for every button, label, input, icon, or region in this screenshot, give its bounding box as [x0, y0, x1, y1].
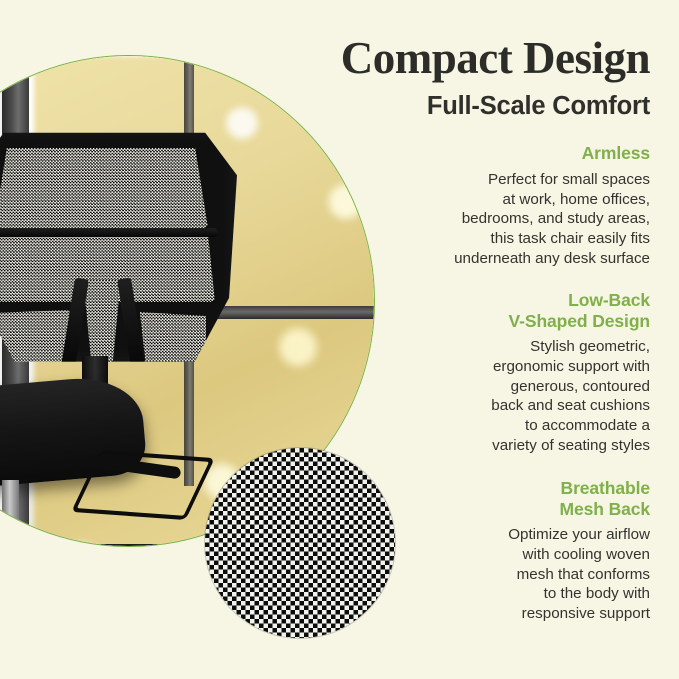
chair-back-panel: [0, 128, 237, 364]
mesh-panel-lower-left: [0, 310, 71, 362]
feature-block-breathable-mesh-back: Breathable Mesh Back Optimize your airfl…: [242, 478, 650, 623]
feature-heading-low-back-v-shaped-design: Low-Back V-Shaped Design: [242, 290, 650, 331]
feature-heading-breathable-mesh-back: Breathable Mesh Back: [242, 478, 650, 519]
feature-block-armless: Armless Perfect for small spaces at work…: [242, 143, 650, 268]
copy-column: Compact Design Full-Scale Comfort Armles…: [242, 36, 650, 624]
frame-rib-horizontal: [0, 228, 218, 237]
mesh-panel-top: [0, 148, 208, 228]
feature-body-breathable-mesh-back: Optimize your airflow with cooling woven…: [242, 525, 650, 623]
feature-body-low-back-v-shaped-design: Stylish geometric, ergonomic support wit…: [242, 337, 650, 455]
mesh-panel-lower-right: [134, 312, 206, 362]
feature-heading-armless: Armless: [242, 143, 650, 163]
page-title: Compact Design: [242, 36, 650, 82]
feature-block-low-back-v-shaped-design: Low-Back V-Shaped Design Stylish geometr…: [242, 290, 650, 455]
chair-gas-cylinder: [2, 480, 19, 546]
product-feature-page: Compact Design Full-Scale Comfort Armles…: [0, 0, 679, 679]
feature-body-armless: Perfect for small spaces at work, home o…: [242, 170, 650, 268]
page-subtitle: Full-Scale Comfort: [242, 91, 650, 122]
